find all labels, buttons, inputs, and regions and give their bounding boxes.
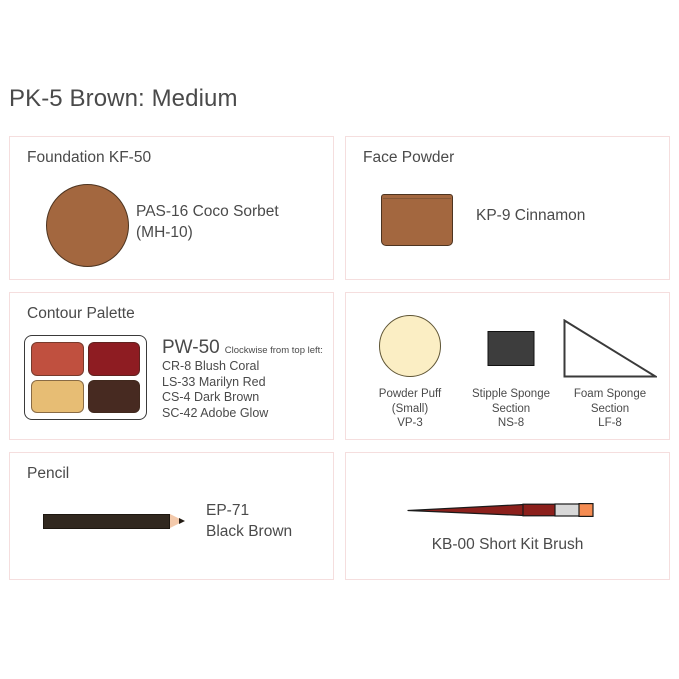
contour-shade-3: CS-4 Dark Brown: [162, 390, 334, 406]
palette-pan-bottom-left: [31, 380, 84, 414]
palette-pan-top-right: [88, 342, 141, 376]
page-title: PK-5 Brown: Medium: [9, 85, 238, 113]
powder-puff-code: VP-3: [358, 416, 462, 431]
contour-shade-1: CR-8 Blush Coral: [162, 359, 334, 375]
contour-code: PW-50: [162, 337, 220, 359]
contour-note: Clockwise from top left:: [220, 345, 323, 356]
foam-sponge-art: [558, 309, 662, 387]
stipple-sponge-line-2: Section: [459, 402, 563, 417]
powder-puff-circle-icon: [379, 315, 441, 377]
palette-pan-bottom-right: [88, 380, 141, 414]
kit-brush-icon: [406, 498, 596, 522]
contour-palette-case: [24, 335, 147, 420]
panel-contour-palette: Contour Palette PW-50Clockwise from top …: [9, 292, 334, 440]
stipple-sponge-art: [459, 309, 563, 387]
palette-pan-top-left: [31, 342, 84, 376]
contour-shade-2: LS-33 Marilyn Red: [162, 375, 334, 391]
panel-title-pencil: Pencil: [27, 465, 69, 483]
stipple-sponge-code: NS-8: [459, 416, 563, 431]
pencil-point: [179, 518, 185, 524]
panel-title-foundation: Foundation KF-50: [27, 149, 151, 167]
panel-pencil: Pencil EP-71 Black Brown: [9, 452, 334, 580]
tool-powder-puff: Powder Puff (Small) VP-3: [358, 309, 462, 431]
pencil-body: [43, 514, 170, 529]
panel-foundation: Foundation KF-50 PAS-16 Coco Sorbet (MH-…: [9, 136, 334, 280]
contour-text-block: PW-50Clockwise from top left: CR-8 Blush…: [162, 337, 334, 421]
contour-headline: PW-50Clockwise from top left:: [162, 337, 334, 359]
powder-item-label: KP-9 Cinnamon: [476, 205, 585, 226]
tool-foam-sponge: Foam Sponge Section LF-8: [558, 309, 662, 431]
foam-sponge-line-2: Section: [558, 402, 662, 417]
foam-sponge-code: LF-8: [558, 416, 662, 431]
tool-stipple-sponge: Stipple Sponge Section NS-8: [459, 309, 563, 431]
stipple-sponge-square-icon: [488, 331, 535, 366]
panel-title-contour-palette: Contour Palette: [27, 305, 135, 323]
panel-brush: KB-00 Short Kit Brush: [345, 452, 670, 580]
foam-sponge-triangle-icon: [563, 319, 657, 378]
panel-title-face-powder: Face Powder: [363, 149, 454, 167]
pencil-item-label: EP-71 Black Brown: [206, 500, 292, 542]
powder-puff-line-2: (Small): [358, 402, 462, 417]
pencil-art: [43, 510, 191, 532]
powder-compact-swatch: [381, 194, 453, 246]
panel-sponges-tools: Powder Puff (Small) VP-3 Stipple Sponge …: [345, 292, 670, 440]
foam-sponge-line-1: Foam Sponge: [558, 387, 662, 402]
powder-puff-line-1: Powder Puff: [358, 387, 462, 402]
foundation-item-label: PAS-16 Coco Sorbet (MH-10): [136, 201, 279, 243]
panel-face-powder: Face Powder KP-9 Cinnamon: [345, 136, 670, 280]
contour-shade-4: SC-42 Adobe Glow: [162, 406, 334, 422]
powder-puff-art: [358, 309, 462, 387]
foundation-circle-swatch: [46, 184, 129, 267]
brush-item-label: KB-00 Short Kit Brush: [346, 536, 669, 554]
stipple-sponge-line-1: Stipple Sponge: [459, 387, 563, 402]
